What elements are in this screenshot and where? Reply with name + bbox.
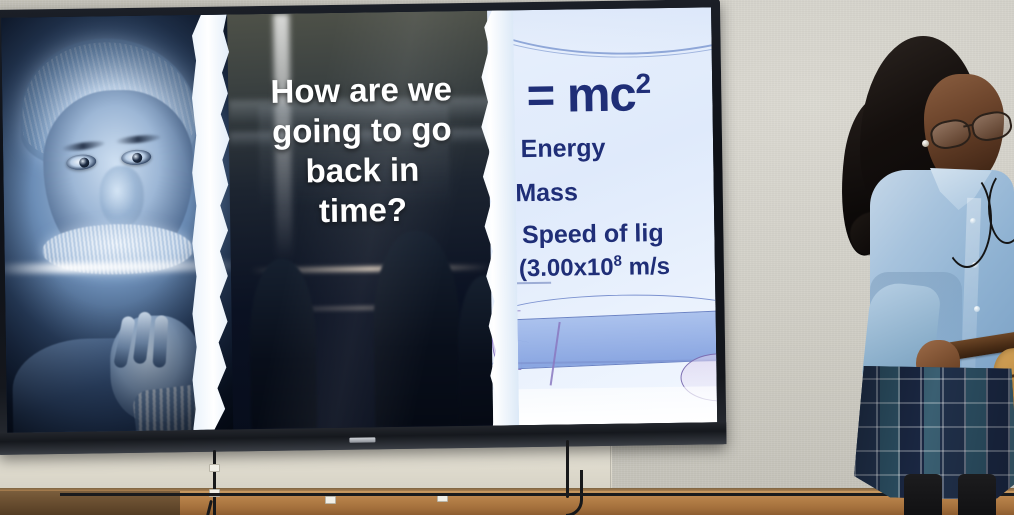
cable-clip-1 <box>209 464 220 472</box>
television[interactable]: E = mc2 = Energy = Mass = Speed of lig (… <box>0 0 727 455</box>
tv-brand-badge <box>349 437 375 442</box>
glasses-lens-right <box>970 109 1014 144</box>
cable-clip-3 <box>325 496 336 504</box>
presenter-earring <box>922 140 929 147</box>
question-line-3: back in <box>235 149 490 193</box>
photo-scene: E = mc2 = Energy = Mass = Speed of lig (… <box>0 0 1014 515</box>
presenter-leg-right <box>958 474 996 515</box>
tv-screen[interactable]: E = mc2 = Energy = Mass = Speed of lig (… <box>1 7 717 432</box>
equation-value-units: m/s <box>622 253 670 281</box>
tv-cable-left <box>213 450 216 515</box>
slide-question-text: How are we going to go back in time? <box>234 69 490 233</box>
shirt-button-3 <box>974 306 980 312</box>
equation-line-value: (3.00x108 m/s <box>519 252 671 283</box>
audience-silhouette-1 <box>249 258 318 429</box>
equation-value-text: (3.00x10 <box>519 254 614 282</box>
equation-panel: E = mc2 = Energy = Mass = Speed of lig (… <box>487 7 717 425</box>
presenter-lanyard-cord <box>942 172 992 268</box>
decorative-arc-outer <box>487 7 717 60</box>
question-line-2: going to go <box>235 109 490 153</box>
presenter-leg-left <box>904 474 942 515</box>
presenter <box>838 22 1014 515</box>
equation-line-speed: = Speed of lig <box>500 219 664 250</box>
question-line-1: How are we <box>234 69 489 113</box>
slide-bottom-fade <box>493 386 718 425</box>
equation-title-superscript: 2 <box>635 68 650 99</box>
question-line-4: time? <box>236 189 491 233</box>
audience-silhouette-2 <box>372 230 461 427</box>
presentation-slide: E = mc2 = Energy = Mass = Speed of lig (… <box>1 7 717 432</box>
